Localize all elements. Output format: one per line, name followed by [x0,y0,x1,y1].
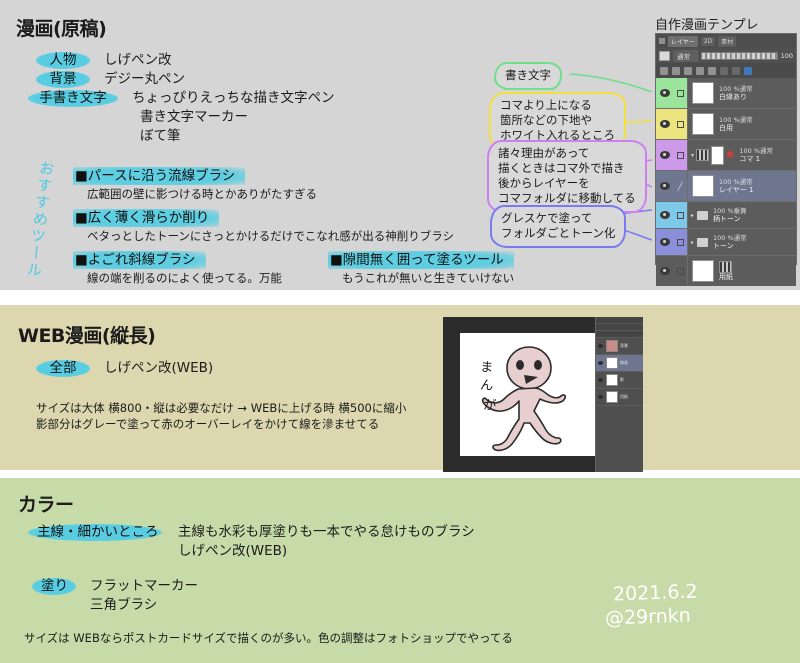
layer-thumbnail[interactable] [692,175,714,197]
mini-panel-moderow [596,324,643,331]
eye-icon[interactable] [660,120,670,128]
layer-thumbnail[interactable] [606,374,618,386]
layer-row[interactable]: ▸ 100 %通常 トーン [656,229,796,256]
new-raster-layer-icon[interactable] [720,67,728,75]
section-manga: 漫画(原稿) 自作漫画テンプレ 人物 しげペン改 背景 デジー丸ペン 手書き文字… [0,0,800,290]
tab-material[interactable]: 素材 [718,36,736,47]
value-zenbu: しげペン改(WEB) [104,359,213,377]
label-nuri: 塗り [32,578,76,595]
eye-icon[interactable] [660,89,670,97]
layer-name: トーン [713,242,747,251]
layer-blend-row[interactable]: 通常 100 [656,48,796,63]
layer-lock-cell[interactable] [673,202,688,228]
checkbox-icon[interactable] [677,90,684,97]
eye-icon[interactable] [598,395,603,399]
layer-thumbnail[interactable] [692,82,714,104]
signature-handle: @29rnkn [605,603,692,632]
mini-panel-tabbar [596,317,643,324]
layer-row[interactable]: 用紙 [656,256,796,286]
mini-layer-panel[interactable]: 背景 線画 影 用紙 [595,317,643,472]
add-layer-icon[interactable] [744,67,752,75]
layer-row[interactable]: ▸ 100 %乗算 柄トーン [656,202,796,229]
menu-icon [659,38,665,44]
layer-panel-tabs[interactable]: レイヤー 2D 素材 [656,34,796,48]
svg-text:が: が [483,398,497,414]
color-swatch-icon[interactable] [659,51,670,61]
lock-icon[interactable] [696,67,704,75]
mini-layer-row[interactable]: 用紙 [596,389,643,406]
eye-icon[interactable] [660,238,670,246]
layer-visibility-toggle[interactable] [656,229,673,255]
layer-lock-cell[interactable] [673,229,688,255]
layer-row[interactable]: ▾ ✖ 100 %通常 コマ 1 [656,140,796,171]
eye-icon[interactable] [660,151,670,159]
layer-visibility-toggle[interactable] [656,109,673,139]
layer-visibility-toggle[interactable] [656,171,673,201]
layer-name: レイヤー 1 [719,186,753,195]
layer-lock-cell[interactable] [673,256,688,286]
doodle-figure-icon: ま ん が [460,333,602,456]
opacity-slider[interactable] [701,52,778,60]
web-note-1: サイズは大体 横800・縦は必要なだけ → WEBに上げる時 横500に縮小 [36,400,406,416]
value-shusen-2: しげペン改(WEB) [178,542,287,560]
layer-name: 線画 [620,360,628,365]
web-note-2: 影部分はグレーで塗って赤のオーバーレイをかけて線を滲ませてる [36,416,379,432]
layer-toolbar[interactable] [656,63,796,78]
layer-lock-cell[interactable]: ╱ [673,171,688,201]
layer-name: 背景 [620,343,628,348]
checkbox-icon[interactable] [677,268,684,275]
callout-kakimoji: 書き文字 [494,62,562,90]
new-folder-icon[interactable] [732,67,740,75]
mask-icon[interactable] [672,67,680,75]
svg-text:ん: ん [480,378,494,394]
paper-icon [719,261,732,273]
clip-icon[interactable] [660,67,668,75]
checkbox-icon[interactable] [677,212,684,219]
mini-layer-row[interactable]: 背景 [596,338,643,355]
layer-thumbnail[interactable] [606,391,618,403]
eye-icon[interactable] [598,378,603,382]
mask-thumbnail[interactable] [711,146,724,165]
value-nuri-2: 三角ブラシ [90,596,157,614]
layer-visibility-toggle[interactable] [656,140,673,170]
layer-opacity: 100 %乗算 [713,207,747,215]
ruler-icon[interactable] [684,67,692,75]
layer-opacity: 100 %通常 [719,116,753,124]
layer-opacity: 100 %通常 [719,85,753,93]
tab-2d[interactable]: 2D [701,37,715,46]
section-title-color: カラー [18,490,74,517]
canvas-area: ま ん が [460,333,602,456]
opacity-value: 100 [781,52,793,60]
layer-name: 用紙 [719,273,733,282]
layer-name: 柄トーン [713,215,747,224]
chevron-right-icon[interactable]: ▸ [691,212,694,219]
layer-row[interactable]: 100 %通常 白用 [656,109,796,140]
blend-mode-select[interactable]: 通常 [673,50,698,62]
section-color: カラー 主線・細かいところ 主線も水彩も厚塗りも一本でやる怠けものブラシ しげペ… [0,478,800,663]
infographic-page: 漫画(原稿) 自作漫画テンプレ 人物 しげペン改 背景 デジー丸ペン 手書き文字… [0,0,800,663]
layer-thumbnail[interactable] [692,260,714,282]
folder-thumbnail[interactable] [696,149,709,161]
value-shusen-1: 主線も水彩も厚塗りも一本でやる怠けものブラシ [178,523,475,541]
label-zenbu: 全部 [36,360,90,377]
tab-layer[interactable]: レイヤー [668,36,698,47]
web-screenshot-mock: ま ん が 背景 線画 影 [443,317,643,472]
layer-lock-cell[interactable] [673,78,688,108]
section-title-web: WEB漫画(縦長) [18,321,155,348]
color-note-1: サイズは WEBならポストカードサイズで描くのが多い。色の調整はフォトショップで… [24,630,513,646]
layer-opacity: 100 %通常 [713,234,747,242]
layer-name: 白用 [719,124,753,133]
eye-icon[interactable] [598,344,603,348]
callout-gurescale: グレスケで塗って フォルダごとトーン化 [490,205,626,248]
checkbox-icon[interactable] [677,121,684,128]
doodle-label: ま [480,360,494,376]
layer-name: 白縁あり [719,93,753,102]
folder-icon[interactable] [697,238,708,247]
chevron-right-icon[interactable]: ▸ [691,239,694,246]
layer-visibility-toggle[interactable] [656,256,673,286]
layer-name: 影 [620,377,624,382]
callout-riyuu: 諸々理由があって 描くときはコマ外で描き 後からレイヤーを コマフォルダに移動し… [487,140,647,213]
layer-thumbnail[interactable] [606,340,618,352]
mini-layer-row-selected[interactable]: 線画 [596,355,643,372]
layer-name: 用紙 [620,394,628,399]
value-nuri-1: フラットマーカー [90,577,198,595]
pen-icon: ╱ [678,182,683,191]
eye-icon[interactable] [598,361,603,365]
eye-icon[interactable] [660,267,670,275]
eye-icon[interactable] [660,182,670,190]
chevron-down-icon[interactable]: ▾ [691,152,694,159]
layer-thumbnail[interactable] [692,113,714,135]
label-shusen: 主線・細かいところ [28,524,162,541]
checkbox-icon[interactable] [677,239,684,246]
layer-visibility-toggle[interactable] [656,78,673,108]
mini-layer-row[interactable]: 影 [596,372,643,389]
eye-icon[interactable] [660,211,670,219]
layer-row[interactable]: 100 %通常 白縁あり [656,78,796,109]
checkbox-icon[interactable] [677,152,684,159]
transparent-lock-icon[interactable] [708,67,716,75]
layer-lock-cell[interactable] [673,109,688,139]
layer-opacity: 100 %通常 [719,178,753,186]
layer-lock-cell[interactable] [673,140,688,170]
layer-panel[interactable]: レイヤー 2D 素材 通常 100 [655,33,797,265]
layer-thumbnail[interactable] [606,357,618,369]
folder-icon[interactable] [697,211,708,220]
layer-row-selected[interactable]: ╱ 100 %通常 レイヤー 1 [656,171,796,202]
layer-name: コマ 1 [739,155,773,164]
layer-opacity: 100 %通常 [739,147,773,155]
layer-visibility-toggle[interactable] [656,202,673,228]
mask-disabled-icon[interactable]: ✖ [726,150,734,161]
section-web: WEB漫画(縦長) 全部 しげペン改(WEB) サイズは大体 横800・縦は必要… [0,305,800,470]
mini-panel-toolbar [596,331,643,338]
